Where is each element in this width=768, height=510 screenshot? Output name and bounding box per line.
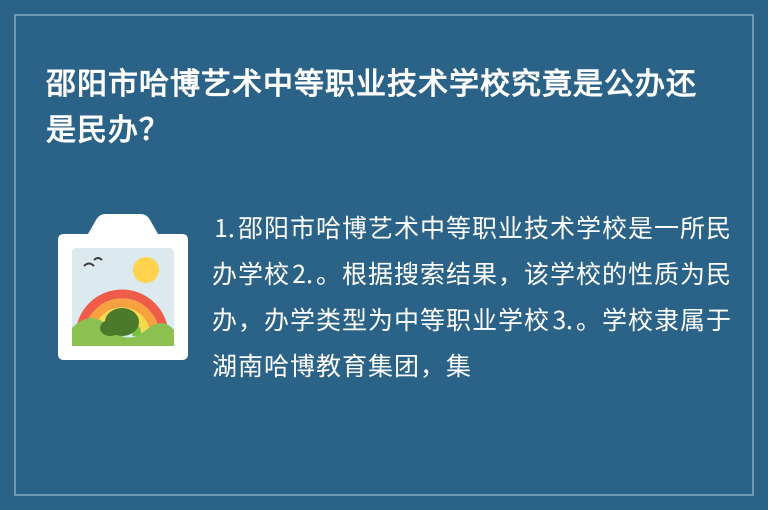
landscape-photo-thumbnail [50, 204, 195, 364]
article-card: 邵阳市哈博艺术中等职业技术学校究竟是公办还是民办？ [0, 0, 768, 510]
page-title: 邵阳市哈博艺术中等职业技术学校究竟是公办还是民办？ [46, 62, 726, 154]
sun-icon [133, 257, 159, 283]
photo-inner-scene [72, 248, 174, 346]
article-body: ⒈邵阳市哈博艺术中等职业技术学校是一所民办学校⒉。根据搜索结果，该学校的性质为民… [212, 206, 732, 390]
